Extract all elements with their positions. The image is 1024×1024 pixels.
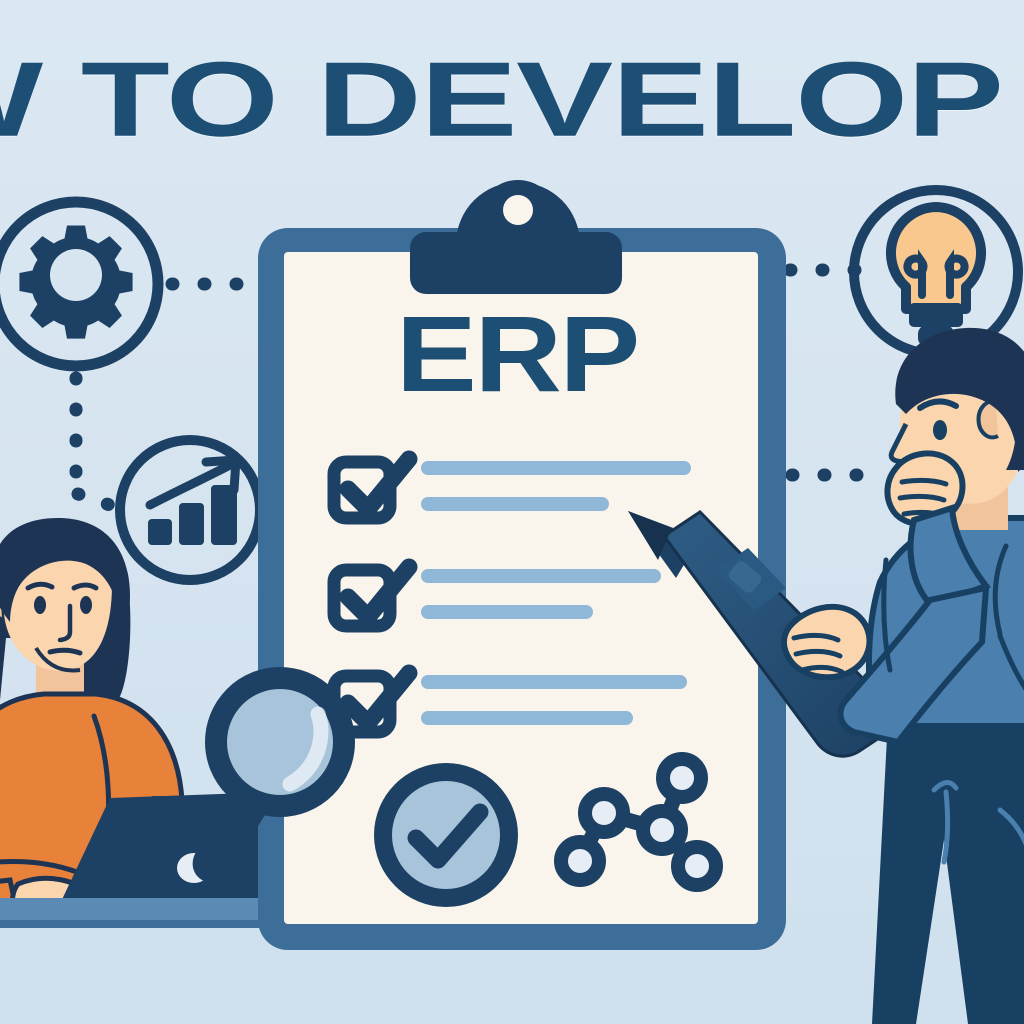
text-line-short-3 <box>421 711 633 725</box>
text-line-long-1 <box>421 461 691 475</box>
text-line-short-2 <box>421 605 593 619</box>
clipboard-clip-hole <box>503 195 533 225</box>
illustration-svg <box>0 0 1024 1024</box>
check-badge-icon <box>374 763 518 907</box>
text-line-long-2 <box>421 569 661 583</box>
text-line-long-3 <box>421 675 687 689</box>
text-line-short-1 <box>421 497 609 511</box>
pen-grip-hand <box>784 607 870 677</box>
illustration-canvas: HOW TO DEVELOP ERP ERP <box>0 0 1024 1024</box>
